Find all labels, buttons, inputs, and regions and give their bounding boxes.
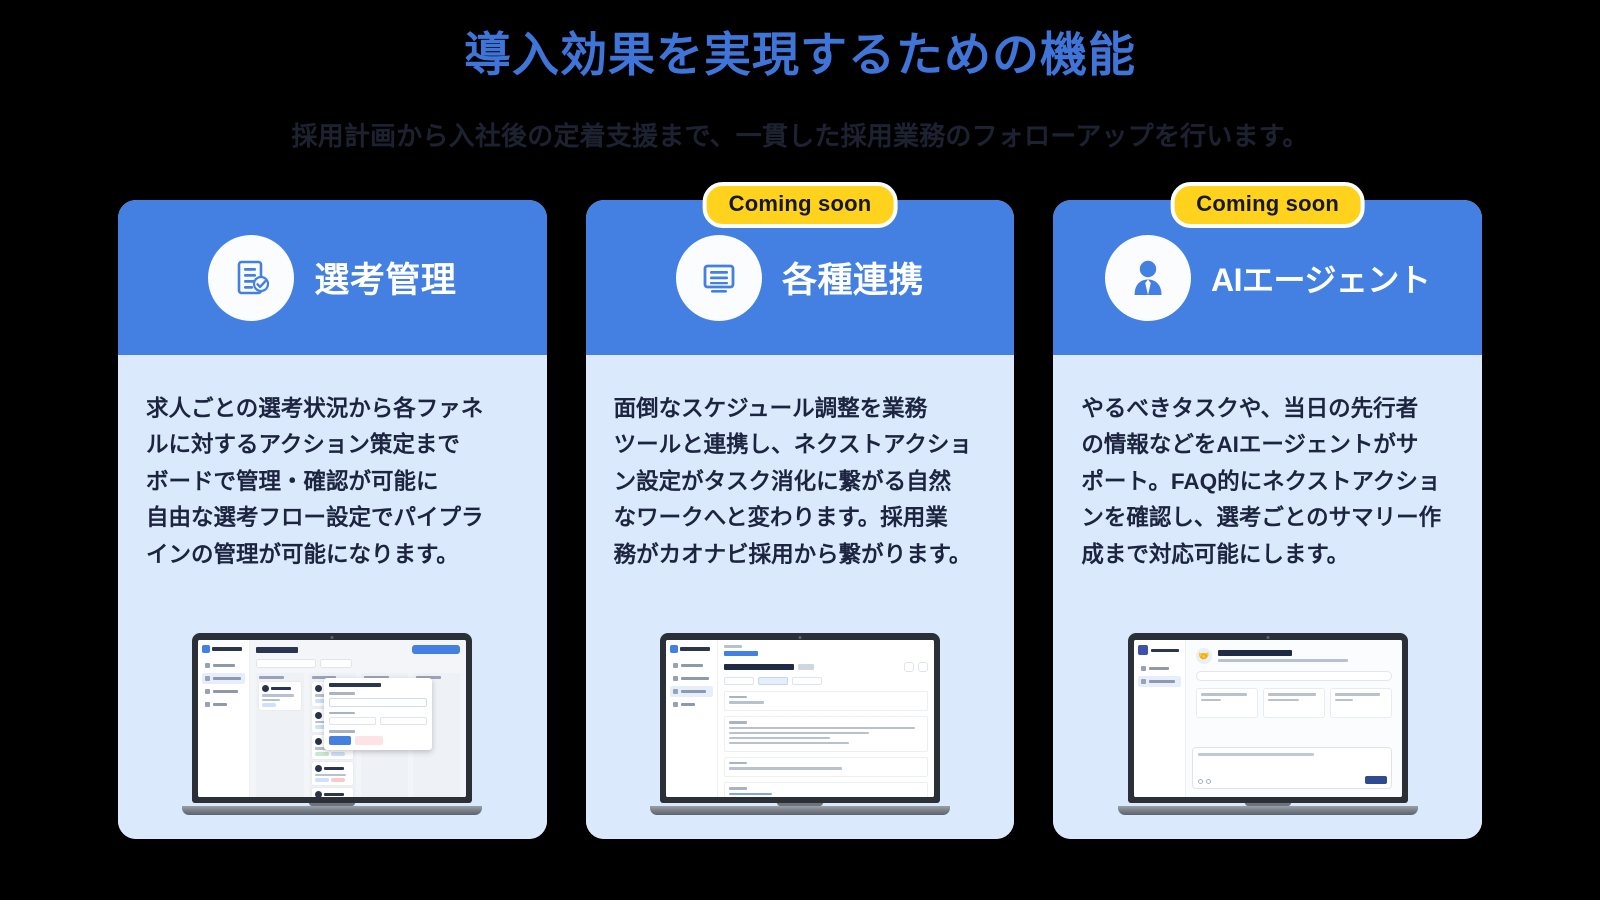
emoji-icon[interactable] <box>1206 779 1211 784</box>
kanban-card[interactable] <box>312 788 353 797</box>
avatar <box>315 791 322 797</box>
search-input[interactable] <box>256 659 316 668</box>
laptop-screen <box>666 640 934 797</box>
edit-button[interactable] <box>918 662 928 672</box>
sidebar-item-chat[interactable] <box>1138 663 1181 674</box>
card-body: やるべきタスクや、当日の先行者 の情報などをAIエージェントがサ ポート。FAQ… <box>1053 355 1482 839</box>
filter-dropdown[interactable] <box>320 659 352 668</box>
wave-emoji-icon: 🤝 <box>1196 648 1212 664</box>
more-button[interactable] <box>904 662 914 672</box>
page-subtitle: 採用計画から入社後の定着支援まで、一貫した採用業務のフォローアップを行います。 <box>0 116 1600 153</box>
send-button[interactable] <box>1365 776 1387 784</box>
chat-icon <box>1141 666 1146 671</box>
app-main <box>718 640 934 797</box>
feature-cards-row: 選考管理 求人ごとの選考状況から各ファネ ルに対するアクション策定まで ボードで… <box>118 200 1482 839</box>
page-root: 導入効果を実現するための機能 採用計画から入社後の定着支援まで、一貫した採用業務… <box>0 0 1600 900</box>
modal-reject-button[interactable] <box>355 736 383 745</box>
tab-flow[interactable] <box>792 677 822 685</box>
modal-confirm-button[interactable] <box>329 736 351 745</box>
avatar <box>315 712 322 719</box>
page-heading <box>256 647 298 653</box>
sidebar-item-jobs[interactable] <box>202 686 245 697</box>
list-icon <box>673 676 678 681</box>
app-logo <box>1138 645 1181 655</box>
avatar <box>262 685 269 692</box>
card-description: 求人ごとの選考状況から各ファネ ルに対するアクション策定まで ボードで管理・確認… <box>146 391 519 573</box>
chat-search-input[interactable] <box>1196 671 1392 681</box>
briefcase-icon <box>673 689 678 694</box>
person-tie-icon <box>1105 235 1191 321</box>
gear-icon <box>205 702 210 707</box>
attach-icon[interactable] <box>1198 779 1203 784</box>
kanban-card[interactable] <box>312 762 353 786</box>
home-icon <box>205 663 210 668</box>
kanban-card[interactable] <box>259 682 300 710</box>
app-topbar <box>256 645 460 654</box>
chat-subtitle <box>1218 659 1348 662</box>
feature-card-selection-management[interactable]: 選考管理 求人ごとの選考状況から各ファネ ルに対するアクション策定まで ボードで… <box>118 200 547 839</box>
card-heading: 各種連携 <box>782 252 924 303</box>
app-sidebar <box>198 640 250 797</box>
feature-card-ai-agent[interactable]: Coming soon AIエージェント やるべきタスクや、当日の先行者 の情報… <box>1053 200 1482 839</box>
job-title-row <box>724 662 928 672</box>
laptop-lid <box>660 633 940 803</box>
laptop-screen <box>198 640 466 797</box>
app-sidebar <box>666 640 718 797</box>
app-main: 🤝 <box>1186 640 1402 797</box>
avatar <box>315 738 322 745</box>
tab-bar <box>724 677 928 685</box>
card-body: 面倒なスケジュール調整を業務 ツールと連携し、ネクストアクショ ン設定がタスク消… <box>586 355 1015 839</box>
breadcrumb <box>724 645 742 648</box>
sidebar-item-jobs[interactable] <box>670 686 713 697</box>
suggestion-cards <box>1196 688 1392 718</box>
card-heading: AIエージェント <box>1211 255 1430 301</box>
laptop-lid: 🤝 <box>1128 633 1408 803</box>
tab-overview[interactable] <box>724 677 754 685</box>
sidebar-item-candidates[interactable] <box>202 673 245 684</box>
job-detail-screenshot <box>650 633 950 815</box>
avatar <box>315 765 322 772</box>
sidebar-item-agent[interactable] <box>1138 676 1181 687</box>
modal-select[interactable] <box>329 698 427 707</box>
filter-row <box>256 659 460 668</box>
kanban-board-screenshot <box>182 633 482 815</box>
page-title: 導入効果を実現するための機能 <box>0 26 1600 85</box>
briefcase-icon <box>205 689 210 694</box>
chat-header: 🤝 <box>1196 648 1392 664</box>
page-heading <box>724 651 758 656</box>
webcam-icon <box>1266 636 1269 639</box>
card-header: 選考管理 <box>118 200 547 355</box>
laptop-base <box>1118 806 1418 815</box>
monitor-icon <box>676 235 762 321</box>
card-description: 面倒なスケジュール調整を業務 ツールと連携し、ネクストアクショ ン設定がタスク消… <box>614 391 987 573</box>
logo-mark-icon <box>1138 645 1148 655</box>
primary-action-button[interactable] <box>412 645 460 654</box>
card-description: やるべきタスクや、当日の先行者 の情報などをAIエージェントがサ ポート。FAQ… <box>1081 391 1454 573</box>
doc-section <box>724 716 928 752</box>
app-main <box>250 640 466 797</box>
webcam-icon <box>331 636 334 639</box>
sidebar-item-settings[interactable] <box>202 699 245 710</box>
app-logo <box>202 645 245 653</box>
app-logo <box>670 645 713 653</box>
card-body: 求人ごとの選考状況から各ファネ ルに対するアクション策定まで ボードで管理・確認… <box>118 355 547 839</box>
app-sidebar <box>1134 640 1186 797</box>
avatar <box>315 685 322 692</box>
sidebar-item-settings[interactable] <box>670 699 713 710</box>
document-check-icon <box>208 235 294 321</box>
gear-icon <box>673 702 678 707</box>
logo-mark-icon <box>202 645 210 653</box>
feature-card-integrations[interactable]: Coming soon 各種連携 面倒なスケジュール調整を業務 ツールと連携し、… <box>586 200 1015 839</box>
modal-option-button[interactable] <box>329 717 376 725</box>
ai-chat-screenshot: 🤝 <box>1118 633 1418 815</box>
action-modal[interactable] <box>324 678 432 750</box>
chat-message-input[interactable] <box>1192 747 1392 789</box>
laptop-lid <box>192 633 472 803</box>
sidebar-item-top[interactable] <box>670 660 713 671</box>
webcam-icon <box>799 636 802 639</box>
suggestion-card[interactable] <box>1263 688 1325 718</box>
laptop-base <box>650 806 950 815</box>
sidebar-item-top[interactable] <box>202 660 245 671</box>
kanban-column <box>256 673 303 797</box>
list-icon <box>205 676 210 681</box>
coming-soon-badge: Coming soon <box>703 182 898 228</box>
job-title <box>724 664 794 670</box>
status-badge <box>798 664 814 670</box>
card-heading: 選考管理 <box>314 252 456 303</box>
logo-mark-icon <box>670 645 678 653</box>
doc-section <box>724 757 928 778</box>
chat-title <box>1218 650 1292 656</box>
tab-detail[interactable] <box>758 677 788 685</box>
suggestion-card[interactable] <box>1330 688 1392 718</box>
home-icon <box>673 663 678 668</box>
doc-section <box>724 691 928 712</box>
coming-soon-badge: Coming soon <box>1170 182 1365 228</box>
suggestion-card[interactable] <box>1196 688 1258 718</box>
robot-icon <box>1141 679 1146 684</box>
modal-option-button[interactable] <box>380 717 427 725</box>
laptop-base <box>182 806 482 815</box>
laptop-screen: 🤝 <box>1134 640 1402 797</box>
sidebar-item-candidates[interactable] <box>670 673 713 684</box>
doc-section <box>724 782 928 797</box>
